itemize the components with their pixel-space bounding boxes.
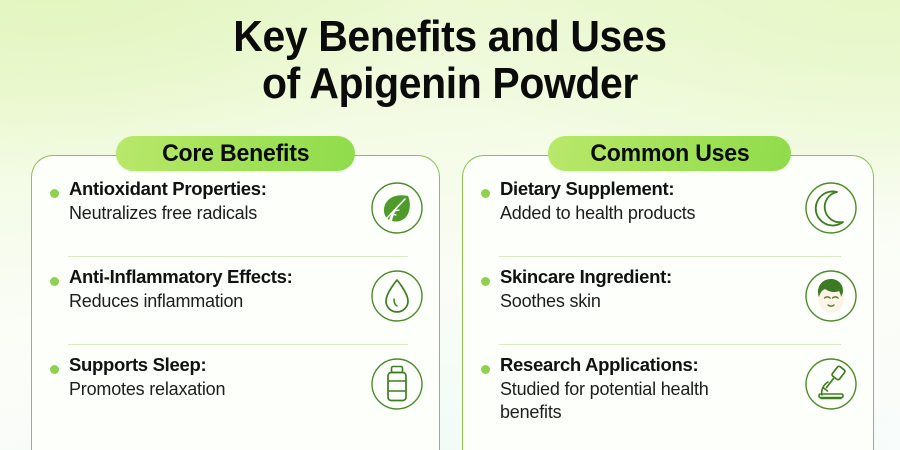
- bullet-icon: [50, 365, 59, 374]
- list-item-desc: Reduces inflammation: [69, 290, 363, 313]
- list-item-desc: Promotes relaxation: [69, 378, 363, 401]
- list-item: Skincare Ingredient: Soothes skin: [481, 266, 859, 348]
- section-header-core-benefits: Core Benefits: [116, 136, 355, 171]
- list-item-title: Supports Sleep:: [69, 354, 363, 376]
- page-title-line-1: Key Benefits and Uses: [32, 13, 869, 60]
- bullet-icon: [481, 365, 490, 374]
- list-item-text: Research Applications: Studied for poten…: [500, 354, 803, 424]
- water-drop-icon: [369, 268, 425, 324]
- crescent-moon-icon: [803, 180, 859, 236]
- card-core-benefits: Antioxidant Properties: Neutralizes free…: [31, 155, 440, 450]
- list-item-text: Skincare Ingredient: Soothes skin: [500, 266, 803, 313]
- card-common-uses: Dietary Supplement: Added to health prod…: [462, 155, 874, 450]
- list-item: Anti-Inflammatory Effects: Reduces infla…: [50, 266, 425, 348]
- microscope-icon: [803, 356, 859, 412]
- bullet-icon: [50, 189, 59, 198]
- section-header-label: Common Uses: [590, 140, 749, 168]
- list-item-title: Skincare Ingredient:: [500, 266, 797, 288]
- list-item: Research Applications: Studied for poten…: [481, 354, 859, 450]
- list-item-title: Anti-Inflammatory Effects:: [69, 266, 363, 288]
- section-header-common-uses: Common Uses: [548, 136, 791, 171]
- supplement-jar-icon: [369, 356, 425, 412]
- infographic-canvas: Key Benefits and Uses of Apigenin Powder…: [0, 0, 900, 450]
- list-item-text: Anti-Inflammatory Effects: Reduces infla…: [69, 266, 369, 313]
- columns-container: Antioxidant Properties: Neutralizes free…: [0, 155, 900, 450]
- list-item-title: Research Applications:: [500, 354, 797, 376]
- list-item-title: Antioxidant Properties:: [69, 178, 363, 200]
- list-item-desc: Soothes skin: [500, 290, 797, 313]
- bullet-icon: [50, 277, 59, 286]
- list-item-desc: Studied for potential health benefits: [500, 378, 758, 424]
- face-icon: [803, 268, 859, 324]
- list-item-text: Dietary Supplement: Added to health prod…: [500, 178, 803, 225]
- list-item-title: Dietary Supplement:: [500, 178, 797, 200]
- list-item: Dietary Supplement: Added to health prod…: [481, 178, 859, 260]
- list-item-text: Supports Sleep: Promotes relaxation: [69, 354, 369, 401]
- list-item: Antioxidant Properties: Neutralizes free…: [50, 178, 425, 260]
- list-item: Supports Sleep: Promotes relaxation: [50, 354, 425, 450]
- bullet-icon: [481, 189, 490, 198]
- leaf-icon: [369, 180, 425, 236]
- list-item-desc: Neutralizes free radicals: [69, 202, 363, 225]
- list-item-desc: Added to health products: [500, 202, 797, 225]
- list-item-text: Antioxidant Properties: Neutralizes free…: [69, 178, 369, 225]
- bullet-icon: [481, 277, 490, 286]
- page-title-line-2: of Apigenin Powder: [32, 60, 869, 107]
- page-title: Key Benefits and Uses of Apigenin Powder: [0, 13, 900, 107]
- section-header-label: Core Benefits: [162, 140, 309, 168]
